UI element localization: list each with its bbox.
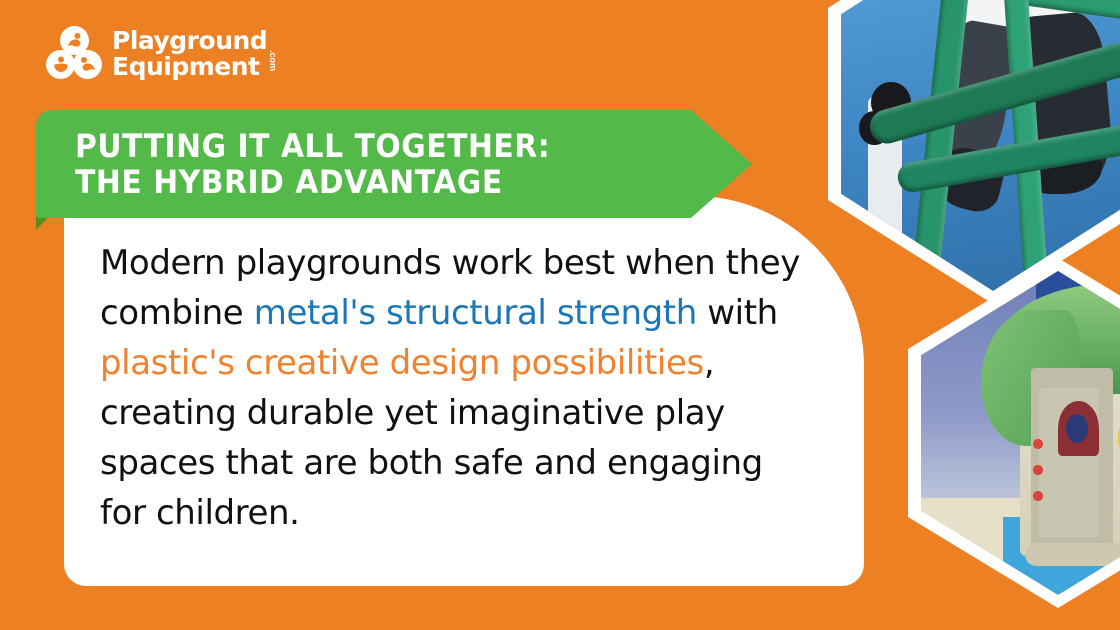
red-bolt-6 (1033, 465, 1042, 475)
page-title-line2: The Hybrid Advantage (75, 163, 503, 201)
brand-name-line1: Playground (112, 28, 267, 53)
red-bolt-5 (1033, 439, 1042, 449)
playhouse-window (1066, 414, 1088, 443)
red-bolt-7 (1033, 491, 1042, 501)
three-children-circles-logo-icon (46, 26, 102, 80)
body-highlight-metal: metal's structural strength (254, 293, 697, 333)
brand-name-line2: Equipment (112, 54, 267, 79)
playhouse-base (1025, 543, 1120, 566)
body-segment-3: with (697, 293, 778, 333)
body-paragraph: Modern playgrounds work best when they c… (100, 238, 818, 538)
brand-logo[interactable]: Playground Equipment .com (46, 26, 278, 80)
heading-banner: Putting It All Together:The Hybrid Advan… (36, 110, 752, 218)
brand-tld: .com (268, 50, 278, 71)
page-title-line1: Putting It All Together: (75, 127, 550, 165)
body-highlight-plastic: plastic's creative design possibilities (100, 343, 704, 383)
brand-wordmark: Playground Equipment .com (112, 28, 278, 79)
hex-photo-clip (921, 271, 1120, 595)
photo-plastic-playhouse (908, 258, 1120, 608)
page-title: Putting It All Together:The Hybrid Advan… (36, 128, 702, 200)
